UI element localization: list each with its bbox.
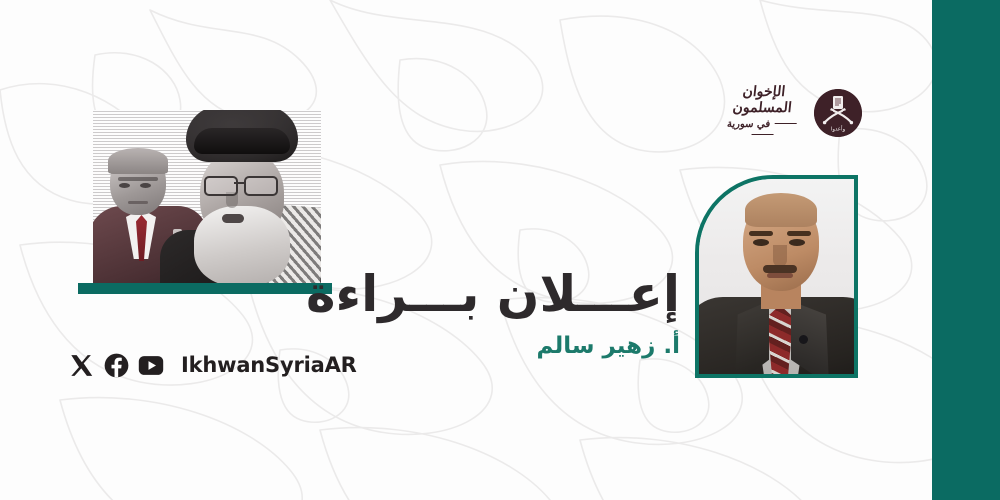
news-photo [93, 110, 321, 286]
news-photo-figure-right [164, 110, 321, 286]
brand-name-line2: في سورية [721, 119, 805, 141]
muslim-brotherhood-emblem-icon: وأعدوا [814, 89, 862, 137]
svg-text:وأعدوا: وأعدوا [831, 124, 846, 132]
social-handle: IkhwanSyriaAR [181, 353, 357, 377]
author-name: أ. زهير سالم [306, 333, 680, 359]
youtube-icon[interactable] [138, 352, 164, 378]
title-block: إعـــلان بـــراءة أ. زهير سالم [306, 268, 680, 359]
brand-name: الإخوان المسلمون في سورية [722, 85, 804, 142]
speaker-portrait-frame [695, 175, 858, 378]
news-photo-underline [78, 283, 332, 294]
brand-name-line1: الإخوان المسلمون [720, 85, 805, 116]
brand-logo: وأعدوا الإخوان المسلمون في سورية [722, 82, 862, 144]
page-title: إعـــلان بـــراءة [306, 268, 680, 321]
x-icon[interactable] [68, 352, 94, 378]
right-accent-bar [932, 0, 1000, 500]
social-row: IkhwanSyriaAR [68, 352, 357, 378]
facebook-icon[interactable] [103, 352, 129, 378]
poster-canvas: وأعدوا الإخوان المسلمون في سورية [0, 0, 1000, 500]
speaker-portrait [699, 179, 854, 374]
